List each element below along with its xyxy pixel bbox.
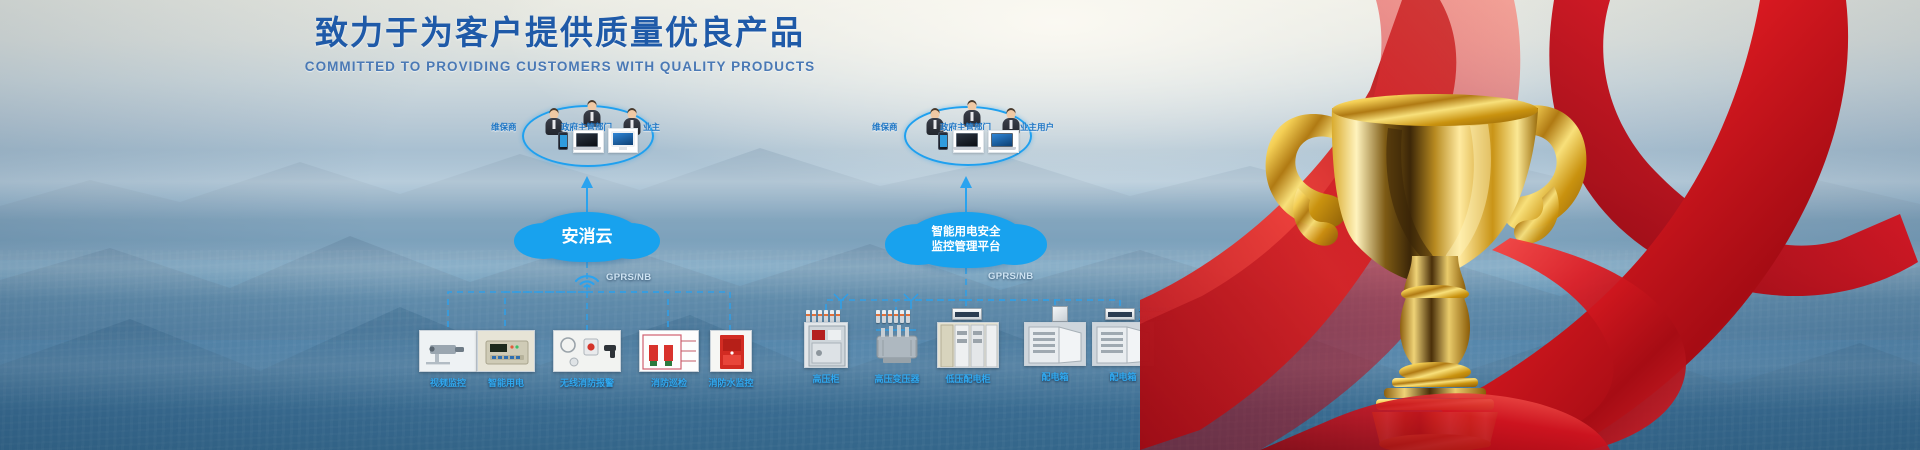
hero-artwork: [1140, 0, 1920, 450]
fire-alarm-panel-icon: [553, 330, 621, 372]
hv-transformer-icon: [869, 322, 925, 368]
lv-distribution-cabinet-icon: [937, 322, 999, 368]
node-hv-switchgear: 高压柜: [794, 322, 858, 385]
headline-chinese: 致力于为客户提供质量优良产品: [0, 14, 1120, 52]
right-cloud-platform: 智能用电安全 监控管理平台: [903, 212, 1029, 268]
node-label: 视频监控: [418, 376, 478, 389]
node-label: 配电箱: [1022, 370, 1088, 383]
user-label-owner: 业主: [643, 121, 660, 133]
promo-banner: 致力于为客户提供质量优良产品 COMMITTED TO PROVIDING CU…: [0, 0, 1920, 450]
trophy-rim: [1332, 94, 1538, 126]
antenna-icon: [832, 292, 850, 315]
headline-english: COMMITTED TO PROVIDING CUSTOMERS WITH QU…: [0, 59, 1120, 74]
hv-switchgear-icon: [804, 322, 848, 368]
node-lv-distribution-cabinet: 低压配电柜: [932, 322, 1004, 385]
node-label: 无线消防报警: [552, 376, 622, 389]
wifi-signal-icon: [573, 268, 601, 293]
right-cloud-label-line2: 监控管理平台: [932, 241, 1001, 253]
user-label-owner-user: 业主用户: [1020, 121, 1054, 133]
node-video-surveillance: 视频监控: [418, 330, 478, 389]
device-laptop-icon: [573, 130, 604, 153]
node-label: 高压柜: [794, 372, 858, 385]
device-monitor-icon: [608, 128, 638, 153]
node-hv-transformer: 高压变压器: [862, 322, 932, 385]
distribution-box-icon: [1024, 322, 1086, 366]
device-laptop-icon: [988, 130, 1019, 153]
node-label: 高压变压器: [862, 372, 932, 385]
node-distribution-box-1: 配电箱: [1022, 322, 1088, 383]
left-link-label: GPRS/NB: [606, 272, 651, 283]
device-laptop-icon: [953, 130, 984, 153]
user-label-maintenance: 维保商: [872, 121, 898, 133]
left-cloud-platform: 安消云: [530, 212, 644, 262]
left-cloud-label: 安消云: [562, 226, 613, 248]
trophy-stem: [1400, 298, 1470, 368]
right-user-cluster: 维保商 政府主管部门 业主用户: [868, 100, 1068, 170]
node-label: 智能用电: [476, 376, 536, 389]
pump-control-cabinet-icon: [639, 330, 699, 372]
antenna-icon: [902, 292, 920, 315]
node-label: 低压配电柜: [932, 372, 1004, 385]
fire-hydrant-cabinet-icon: [710, 330, 752, 372]
node-fire-inspection: 消防巡检: [638, 330, 700, 389]
node-fire-water-monitor: 消防水监控: [702, 330, 760, 389]
node-label: 消防巡检: [638, 376, 700, 389]
energy-meter-icon: [952, 308, 982, 320]
node-smart-power: 智能用电: [476, 330, 536, 389]
right-cloud-label-line1: 智能用电安全: [932, 226, 1001, 238]
left-user-cluster: 维保商 政府主管部门 业主: [485, 100, 690, 170]
device-phone-icon: [558, 132, 568, 150]
user-label-maintenance: 维保商: [491, 121, 517, 133]
power-controller-icon: [477, 330, 535, 372]
node-wireless-fire-alarm: 无线消防报警: [552, 330, 622, 389]
node-label: 消防水监控: [702, 376, 760, 389]
relay-module-icon: [1052, 306, 1068, 322]
ribbon-and-trophy: [1140, 0, 1920, 450]
energy-meter-icon: [1105, 308, 1135, 320]
headline-block: 致力于为客户提供质量优良产品 COMMITTED TO PROVIDING CU…: [0, 14, 1120, 74]
device-phone-icon: [938, 132, 948, 150]
cctv-camera-icon: [419, 330, 477, 372]
right-link-label: GPRS/NB: [988, 271, 1033, 282]
